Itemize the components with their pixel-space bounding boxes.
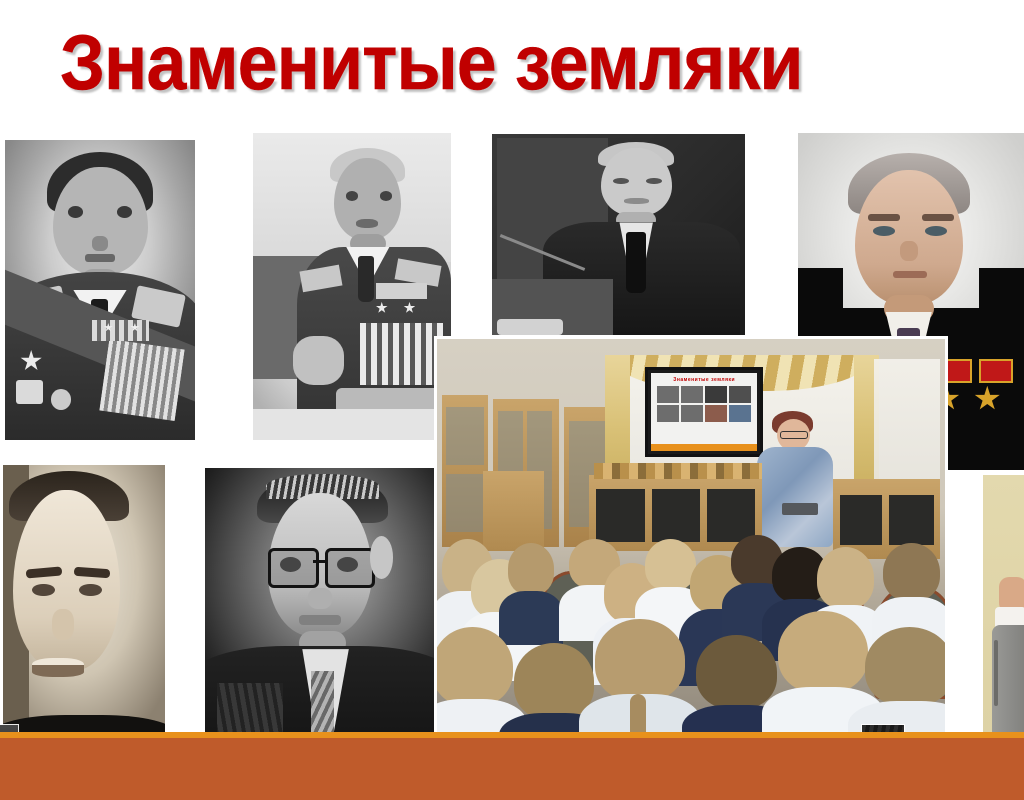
page-title: Знаменитые земляки [60,20,952,104]
inner-slide-screen: Знаменитые земляки [651,373,757,451]
portrait-general-at-desk [253,133,451,440]
library-presentation-event: Знаменитые земляки [437,339,945,739]
presentation-slide: Знаменитые земляки [0,0,1024,800]
portrait-man-at-podium [492,134,745,335]
inner-slide-thumbnails [651,384,757,424]
inner-slide-accent-bar [651,444,757,451]
inner-slide-title: Знаменитые земляки [651,376,757,384]
portrait-marshal [5,140,195,440]
portrait-man-with-glasses [205,468,440,775]
cropped-person-grey-suit [983,475,1024,775]
portrait-smiling-man [3,465,165,777]
banner-bottom-bar [0,738,1024,800]
